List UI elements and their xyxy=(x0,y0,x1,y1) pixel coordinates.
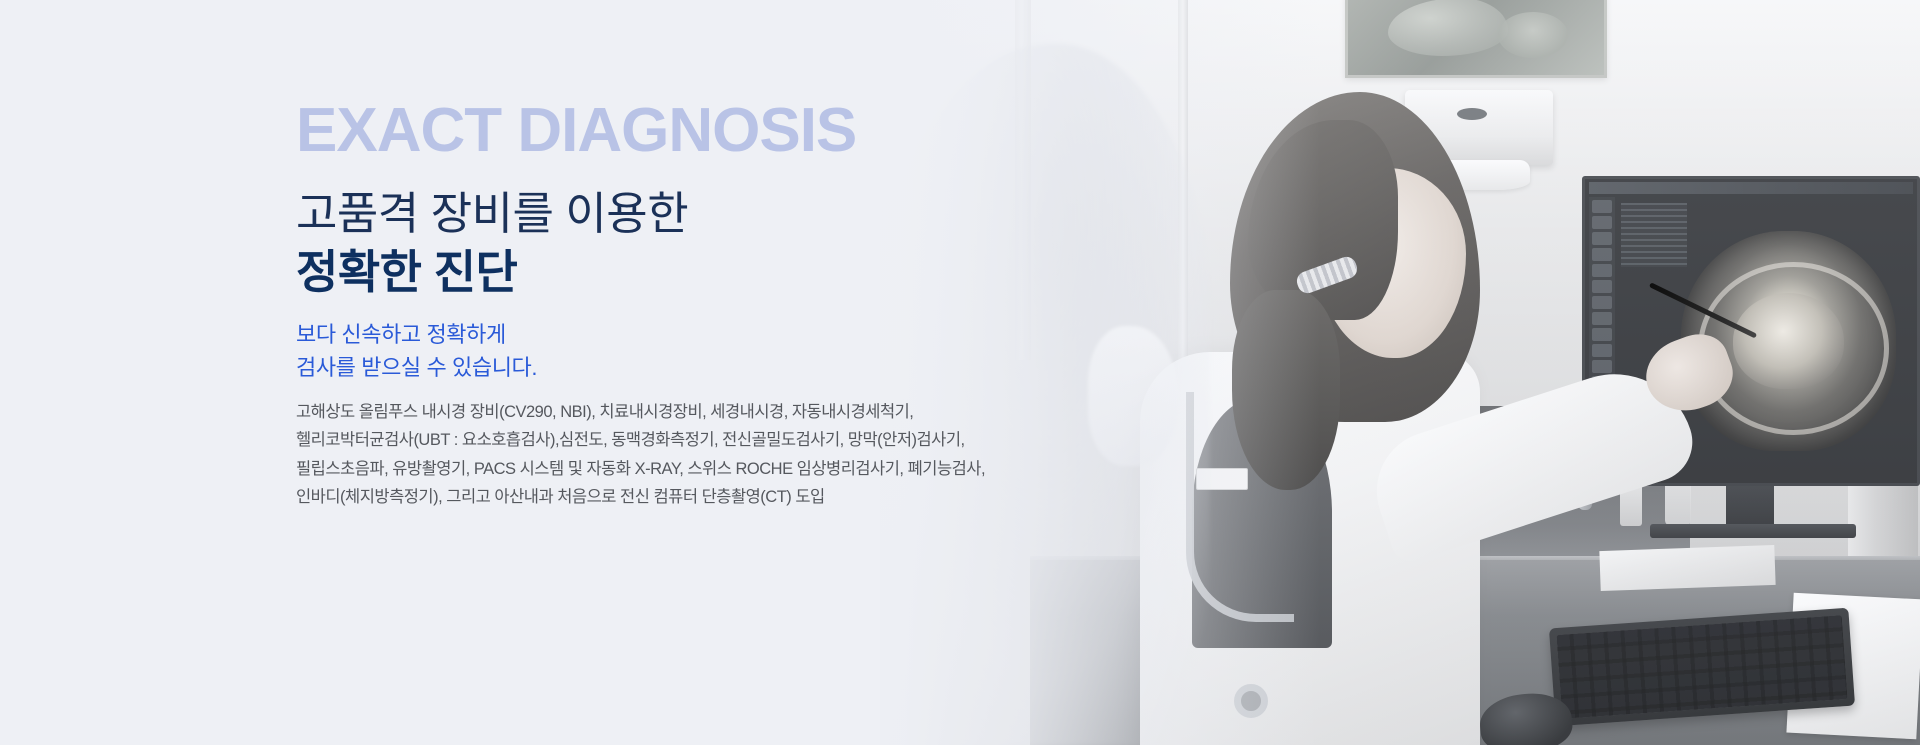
hero-subcopy: 보다 신속하고 정확하게 검사를 받으실 수 있습니다. xyxy=(296,318,537,385)
equipment-list: 고해상도 올림푸스 내시경 장비(CV290, NBI), 치료내시경장비, 세… xyxy=(296,398,985,512)
pacs-toolbar xyxy=(1589,182,1913,194)
monitor-base xyxy=(1650,524,1856,538)
keyboard-icon xyxy=(1549,608,1855,727)
equipment-line: 고해상도 올림푸스 내시경 장비(CV290, NBI), 치료내시경장비, 세… xyxy=(296,398,985,426)
equipment-line: 헬리코박터균검사(UBT : 요소호흡검사),심전도, 동맥경화측정기, 전신골… xyxy=(296,426,985,454)
pacs-patient-info xyxy=(1621,203,1687,267)
desk-documents-back xyxy=(1599,545,1775,591)
equipment-line: 인바디(체지방측정기), 그리고 아산내과 처음으로 전신 컴퓨터 단층촬영(C… xyxy=(296,483,985,511)
hero-eyebrow: EXACT DIAGNOSIS xyxy=(296,100,856,162)
hero-headline-bold: 정확한 진단 xyxy=(296,244,517,302)
hero-banner: EXACT DIAGNOSIS 고품격 장비를 이용한 정확한 진단 보다 신속… xyxy=(0,0,1920,745)
hero-text-block: EXACT DIAGNOSIS 고품격 장비를 이용한 정확한 진단 보다 신속… xyxy=(296,0,1396,745)
hero-subcopy-line-1: 보다 신속하고 정확하게 xyxy=(296,318,537,351)
equipment-line: 필립스초음파, 유방촬영기, PACS 시스템 및 자동화 X-RAY, 스위스… xyxy=(296,455,985,483)
hero-headline-light: 고품격 장비를 이용한 xyxy=(296,186,688,242)
hero-subcopy-line-2: 검사를 받으실 수 있습니다. xyxy=(296,351,537,384)
